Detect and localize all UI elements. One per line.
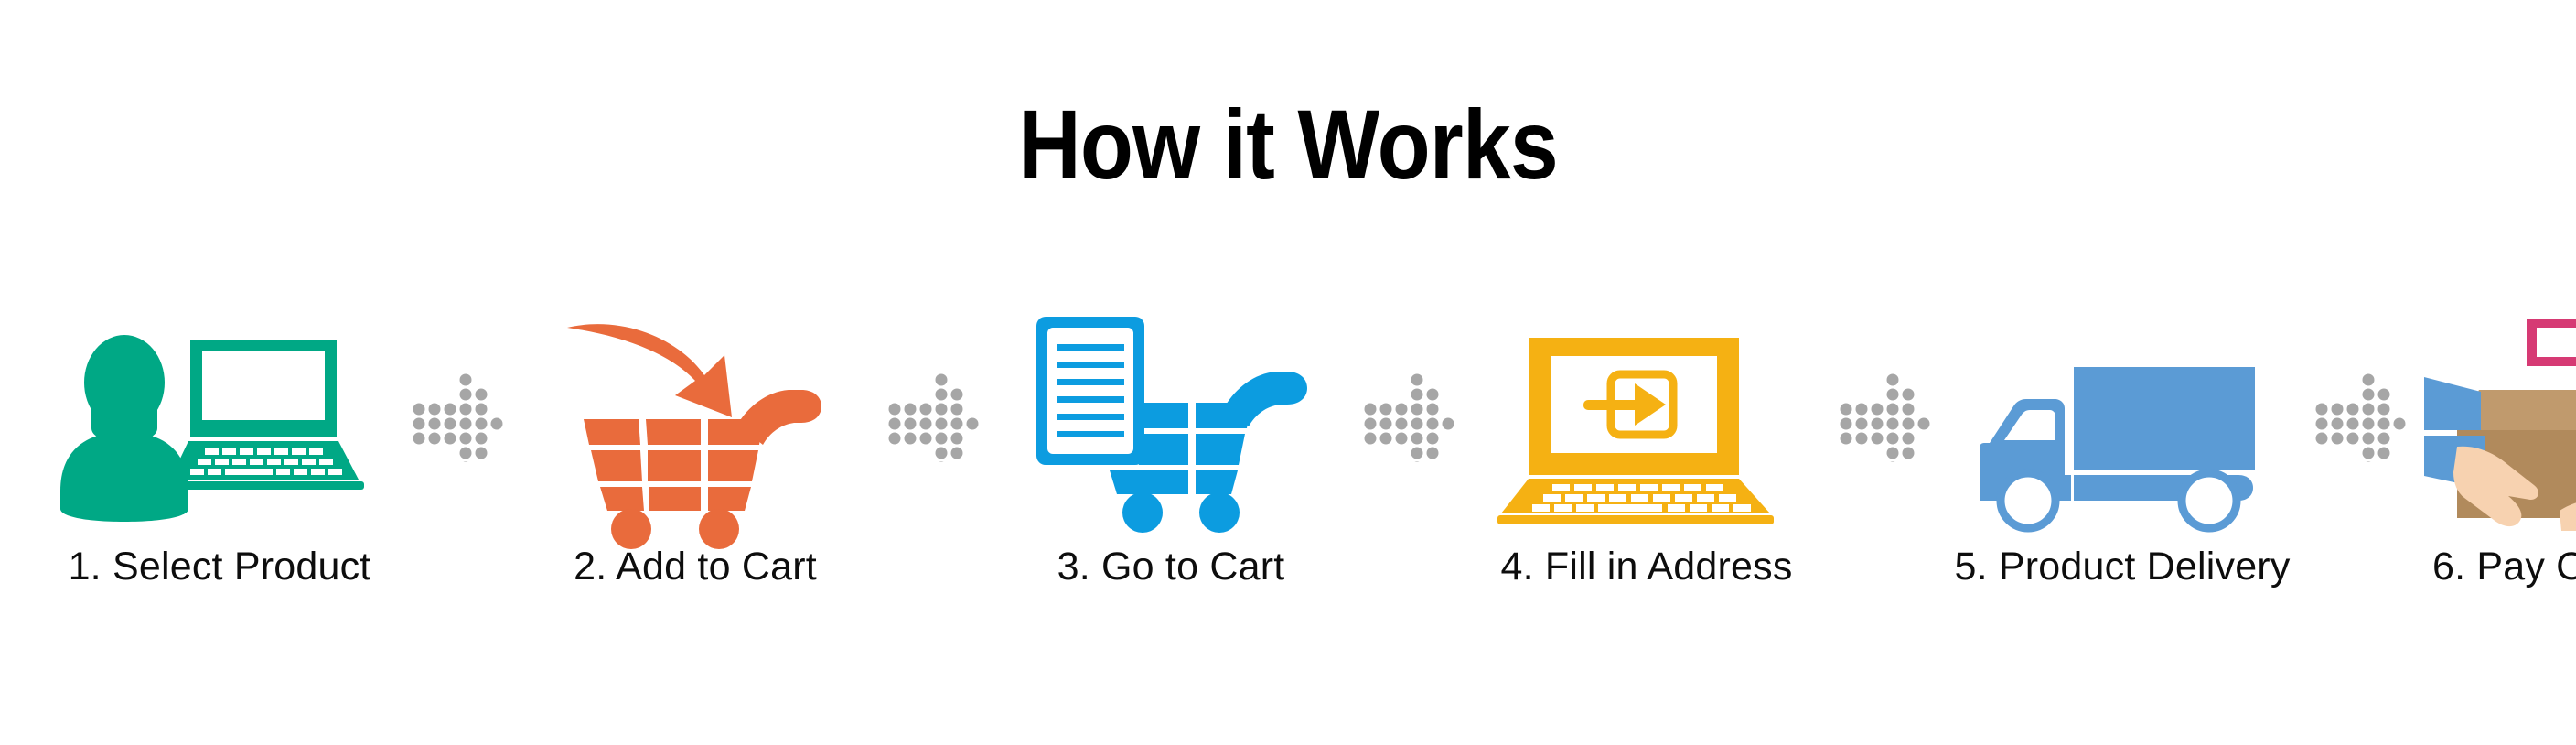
separator-1: [402, 302, 512, 531]
step-6-pay-on-delivery[interactable]: $ 6. Pay On Delivery: [2415, 302, 2576, 589]
step-6-label: 6. Pay On Delivery: [2432, 544, 2576, 589]
step-4-fill-in-address[interactable]: 4. Fill in Address: [1464, 302, 1830, 589]
step-5-artwork: [1939, 302, 2305, 531]
hands-exchanging-box-and-cash-icon: $: [2424, 302, 2576, 531]
dotted-arrow-right-icon: [1839, 371, 1930, 462]
step-5-product-delivery[interactable]: 5. Product Delivery: [1939, 302, 2305, 589]
step-1-artwork: [37, 302, 402, 531]
step-4-artwork: [1464, 302, 1830, 531]
step-6-artwork: $: [2415, 302, 2576, 531]
separator-2: [878, 302, 988, 531]
dotted-arrow-right-icon: [412, 371, 503, 462]
step-3-artwork: [988, 302, 1354, 531]
separator-3: [1354, 302, 1464, 531]
step-1-select-product[interactable]: 1. Select Product: [37, 302, 402, 589]
step-2-artwork: [512, 302, 878, 531]
page-title: How it Works: [155, 95, 2421, 194]
dotted-arrow-right-icon: [1363, 371, 1454, 462]
separator-5: [2305, 302, 2415, 531]
steps-container: 1. Select Product: [37, 302, 2539, 604]
step-3-label: 3. Go to Cart: [1057, 544, 1285, 589]
document-and-cart-icon: [1029, 311, 1313, 531]
person-with-laptop-icon: [55, 320, 384, 531]
shopping-cart-with-arrow-icon: [558, 311, 832, 531]
delivery-truck-icon: [1971, 362, 2273, 531]
step-5-label: 5. Product Delivery: [1954, 544, 2290, 589]
separator-4: [1830, 302, 1939, 531]
step-2-label: 2. Add to Cart: [574, 544, 817, 589]
dotted-arrow-right-icon: [2314, 371, 2406, 462]
laptop-login-icon: [1496, 334, 1798, 531]
step-1-label: 1. Select Product: [69, 544, 371, 589]
step-3-go-to-cart[interactable]: 3. Go to Cart: [988, 302, 1354, 589]
step-2-add-to-cart[interactable]: 2. Add to Cart: [512, 302, 878, 589]
step-4-label: 4. Fill in Address: [1500, 544, 1792, 589]
dotted-arrow-right-icon: [887, 371, 979, 462]
